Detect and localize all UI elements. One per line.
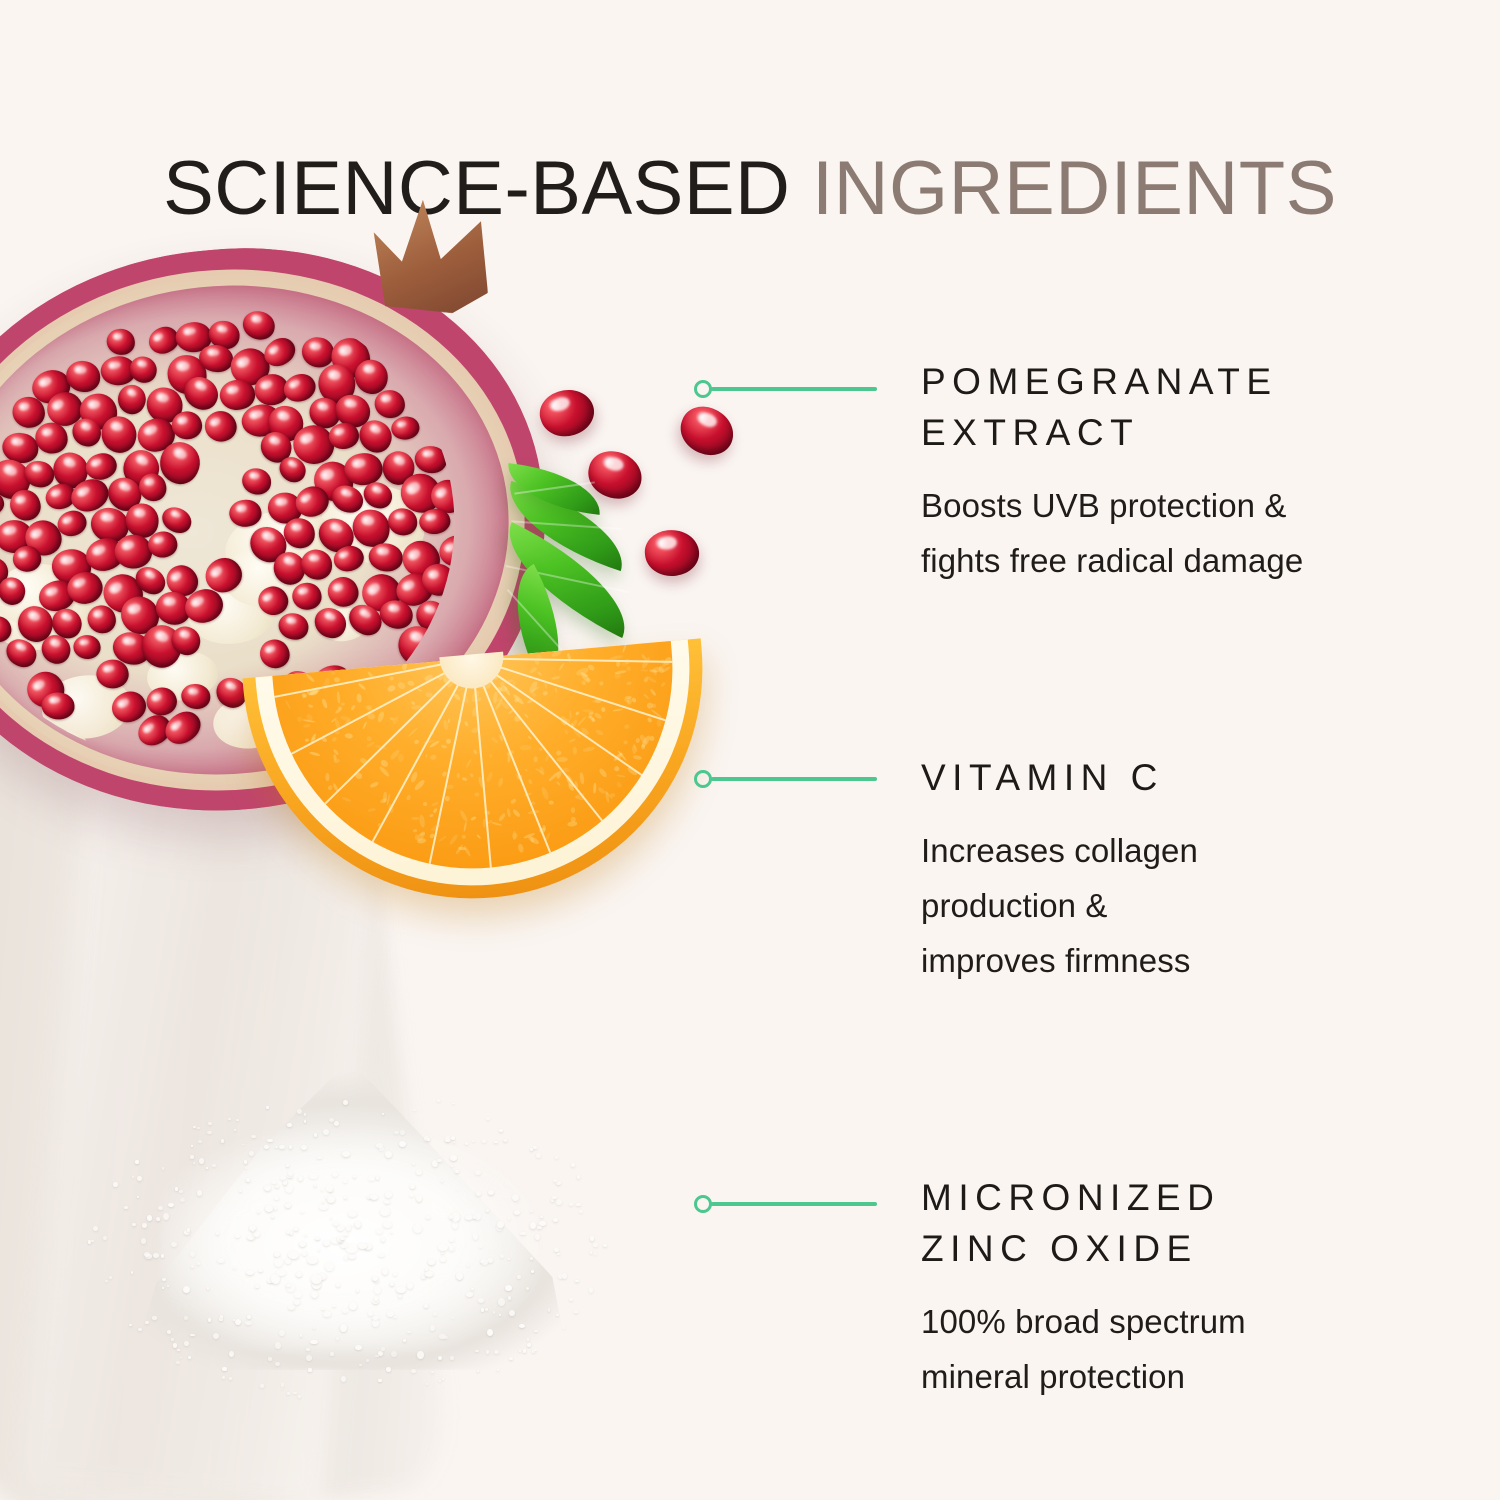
powder-speck xyxy=(198,1140,202,1144)
powder-speck xyxy=(376,1228,383,1234)
powder-speck xyxy=(229,1351,234,1357)
powder-speck xyxy=(244,1160,247,1163)
orange-pulp-vesicle xyxy=(549,800,554,804)
powder-speck xyxy=(439,1334,445,1338)
orange-pulp-vesicle xyxy=(445,737,452,744)
orange-pulp-vesicle xyxy=(556,750,562,756)
orange-pulp-vesicle xyxy=(326,773,330,781)
powder-speck xyxy=(555,1156,558,1159)
orange-pulp-vesicle xyxy=(498,812,507,822)
powder-speck xyxy=(298,1395,301,1398)
orange-pulp-vesicle xyxy=(331,672,335,676)
powder-speck xyxy=(488,1190,494,1195)
orange-pulp-vesicle xyxy=(424,754,428,759)
orange-pulp-vesicle xyxy=(601,706,606,712)
powder-speck xyxy=(287,1123,292,1127)
orange-pulp-vesicle xyxy=(580,773,585,785)
powder-speck xyxy=(184,1341,189,1346)
orange-pulp-vesicle xyxy=(457,717,462,725)
powder-speck xyxy=(124,1206,128,1209)
powder-speck xyxy=(132,1223,136,1226)
powder-speck xyxy=(399,1141,406,1147)
powder-speck xyxy=(438,1244,448,1250)
powder-speck xyxy=(505,1285,512,1291)
powder-speck xyxy=(206,1167,208,1169)
powder-speck xyxy=(366,1359,369,1362)
powder-speck xyxy=(274,1207,277,1210)
orange-pulp-vesicle xyxy=(354,771,363,780)
powder-speck xyxy=(253,1231,260,1236)
orange-pulp-vesicle xyxy=(334,719,340,730)
orange-pulp-vesicle xyxy=(519,745,531,751)
orange-pulp-vesicle xyxy=(649,688,656,696)
powder-speck xyxy=(129,1324,132,1326)
powder-speck xyxy=(537,1226,542,1230)
powder-speck xyxy=(266,1106,269,1109)
powder-speck xyxy=(424,1304,428,1308)
spacer xyxy=(921,1274,1461,1294)
powder-speck xyxy=(379,1146,383,1151)
powder-speck xyxy=(390,1282,393,1286)
orange-pulp-vesicle xyxy=(533,756,537,762)
powder-speck xyxy=(222,1367,226,1371)
powder-speck xyxy=(527,1338,529,1341)
powder-speck xyxy=(207,1131,212,1134)
powder-speck xyxy=(481,1259,489,1264)
powder-speck xyxy=(577,1175,580,1179)
orange-pulp-vesicle xyxy=(615,781,622,788)
powder-speck xyxy=(179,1190,184,1193)
orange-pulp-vesicle xyxy=(356,693,362,702)
pomegranate-aril xyxy=(199,406,241,448)
orange-pulp-vesicle xyxy=(377,711,385,723)
powder-speck xyxy=(271,1180,277,1184)
powder-speck xyxy=(380,1207,390,1215)
powder-speck xyxy=(153,1253,159,1258)
powder-speck xyxy=(137,1176,141,1181)
orange-pulp-vesicle xyxy=(542,825,546,830)
powder-speck xyxy=(517,1275,521,1279)
powder-speck xyxy=(343,1179,346,1183)
orange-pulp-vesicle xyxy=(595,729,604,737)
powder-speck xyxy=(271,1274,280,1284)
orange-pulp-vesicle xyxy=(640,669,649,672)
powder-speck xyxy=(293,1392,296,1394)
orange-pulp-vesicle xyxy=(387,685,396,693)
pomegranate-aril xyxy=(182,684,211,709)
orange-pulp-vesicle xyxy=(486,771,494,783)
powder-speck xyxy=(199,1158,204,1164)
orange-pulp-vesicle xyxy=(473,748,478,754)
orange-pulp-vesicle xyxy=(656,718,662,727)
powder-speck xyxy=(229,1377,232,1381)
powder-speck xyxy=(300,1334,302,1336)
powder-speck xyxy=(439,1380,441,1382)
powder-speck xyxy=(359,1364,362,1366)
powder-speck xyxy=(386,1367,391,1372)
powder-speck xyxy=(188,1356,191,1359)
powder-speck xyxy=(285,1203,291,1208)
powder-speck xyxy=(590,1236,594,1240)
powder-speck xyxy=(296,1272,302,1278)
orange-pulp-vesicle xyxy=(418,814,425,827)
pomegranate-aril xyxy=(106,328,135,356)
powder-speck xyxy=(330,1352,334,1357)
powder-speck xyxy=(175,1187,178,1190)
orange-pulp-vesicle xyxy=(438,835,448,843)
callout-dot-icon xyxy=(694,1195,712,1213)
powder-speck xyxy=(311,1274,322,1284)
powder-speck xyxy=(374,1286,381,1294)
powder-speck xyxy=(442,1378,445,1380)
powder-speck xyxy=(213,1333,219,1339)
powder-speck xyxy=(576,1203,581,1206)
powder-speck xyxy=(184,1316,188,1321)
powder-speck xyxy=(512,1194,519,1201)
orange-pulp-vesicle xyxy=(613,766,620,773)
powder-speck xyxy=(340,1324,346,1331)
powder-speck xyxy=(283,1180,288,1185)
orange-pulp-vesicle xyxy=(569,737,576,742)
powder-speck xyxy=(378,1253,384,1258)
pomegranate-aril xyxy=(277,612,310,642)
orange-pulp-vesicle xyxy=(430,802,438,807)
orange-pulp-vesicle xyxy=(489,754,493,758)
orange-pulp-vesicle xyxy=(414,739,420,745)
powder-speck xyxy=(530,1257,533,1260)
powder-speck xyxy=(279,1330,285,1336)
powder-speck xyxy=(594,1253,597,1256)
powder-speck xyxy=(563,1327,565,1329)
powder-speck xyxy=(304,1234,307,1236)
powder-speck xyxy=(264,1185,271,1191)
callout-dot-icon xyxy=(694,380,712,398)
pomegranate-aril xyxy=(256,636,293,673)
powder-speck xyxy=(527,1343,531,1347)
powder-speck xyxy=(487,1329,493,1335)
powder-speck xyxy=(540,1216,543,1218)
orange-pulp-vesicle xyxy=(284,700,291,710)
spacer xyxy=(921,803,1461,823)
callout-line xyxy=(711,387,877,391)
powder-speck xyxy=(374,1296,379,1300)
orange-pulp-vesicle xyxy=(575,711,580,716)
orange-pulp-vesicle xyxy=(457,773,460,779)
powder-speck xyxy=(413,1224,422,1234)
orange-pulp-vesicle xyxy=(470,773,474,778)
powder-speck xyxy=(348,1254,355,1259)
orange-pulp-vesicle xyxy=(627,698,632,705)
orange-pulp-vesicle xyxy=(598,768,608,779)
powder-speck xyxy=(93,1226,97,1231)
orange-pulp-vesicle xyxy=(643,677,648,683)
powder-speck xyxy=(425,1271,434,1276)
powder-speck xyxy=(326,1184,333,1192)
powder-speck xyxy=(162,1287,164,1289)
orange-pulp-vesicle xyxy=(432,808,438,814)
powder-speck xyxy=(301,1145,307,1150)
powder-speck xyxy=(314,1184,317,1187)
pomegranate-calyx xyxy=(366,195,497,317)
powder-speck xyxy=(208,1318,212,1322)
powder-speck xyxy=(137,1196,139,1198)
pomegranate-aril xyxy=(66,360,102,393)
orange-pulp-vesicle xyxy=(429,813,434,817)
powder-speck xyxy=(103,1236,107,1240)
powder-speck xyxy=(519,1324,525,1328)
powder-speck xyxy=(451,1136,456,1140)
powder-speck xyxy=(355,1221,361,1228)
orange-pulp-vesicle xyxy=(537,671,542,676)
powder-speck xyxy=(325,1262,333,1272)
powder-speck xyxy=(298,1176,303,1181)
orange-pulp-vesicle xyxy=(577,715,587,726)
powder-speck xyxy=(113,1182,117,1186)
powder-speck xyxy=(341,1376,346,1382)
loose-aril xyxy=(534,383,600,443)
orange-pulp-vesicle xyxy=(529,666,537,674)
orange-pulp-vesicle xyxy=(411,817,419,820)
ingredients-infographic: SCIENCE-BASED INGREDIENTS xyxy=(0,0,1500,1500)
powder-speck xyxy=(233,1319,235,1321)
orange-pulp-vesicle xyxy=(461,834,466,839)
powder-speck xyxy=(340,1237,345,1240)
orange-pulp-vesicle xyxy=(653,672,656,675)
orange-pulp-vesicle xyxy=(366,741,375,748)
zinc-oxide-powder-photo xyxy=(40,1030,660,1410)
orange-pulp-vesicle xyxy=(563,729,568,735)
orange-pulp-vesicle xyxy=(470,816,477,821)
orange-pulp-vesicle xyxy=(370,781,380,789)
powder-speck xyxy=(290,1232,293,1235)
callout-dot-icon xyxy=(694,770,712,788)
orange-pulp-vesicle xyxy=(461,777,466,782)
orange-pulp-vesicle xyxy=(309,751,321,757)
orange-pulp-vesicle xyxy=(571,807,575,813)
powder-speck xyxy=(431,1371,434,1373)
powder-speck xyxy=(193,1162,195,1164)
orange-pulp-vesicle xyxy=(626,665,631,671)
powder-speck xyxy=(556,1181,561,1185)
powder-speck xyxy=(456,1272,463,1280)
powder-speck xyxy=(173,1343,177,1348)
powder-speck xyxy=(109,1276,112,1279)
powder-speck xyxy=(530,1210,532,1212)
powder-speck xyxy=(255,1285,258,1288)
orange-pulp-vesicle xyxy=(543,691,549,697)
loose-aril xyxy=(643,527,702,578)
orange-pulp-vesicle xyxy=(526,698,534,704)
powder-speck xyxy=(275,1342,281,1349)
powder-speck xyxy=(400,1130,405,1135)
powder-speck xyxy=(383,1221,392,1228)
powder-speck xyxy=(412,1162,416,1164)
orange-pulp-vesicle xyxy=(397,680,407,689)
powder-speck xyxy=(311,1291,318,1299)
powder-speck xyxy=(245,1321,252,1326)
powder-speck xyxy=(449,1215,453,1218)
powder-speck xyxy=(416,1169,421,1174)
orange-pulp-vesicle xyxy=(573,747,577,755)
orange-pulp-vesicle xyxy=(308,704,314,709)
orange-pulp-vesicle xyxy=(633,755,642,761)
orange-pulp-vesicle xyxy=(320,736,328,743)
orange-pulp-vesicle xyxy=(453,693,462,702)
powder-speck xyxy=(348,1211,357,1218)
powder-speck xyxy=(500,1254,503,1258)
powder-speck xyxy=(498,1298,505,1306)
powder-speck xyxy=(445,1139,450,1142)
powder-speck xyxy=(275,1362,280,1366)
orange-pulp-vesicle xyxy=(366,735,372,742)
powder-speck xyxy=(105,1280,108,1282)
ingredient-description: 100% broad spectrum mineral protection xyxy=(921,1294,1461,1404)
orange-pulp-vesicle xyxy=(527,779,532,785)
powder-speck xyxy=(575,1280,578,1282)
orange-pulp-vesicle xyxy=(558,663,565,672)
powder-speck xyxy=(142,1223,147,1228)
orange-pulp-vesicle xyxy=(660,681,666,687)
powder-speck xyxy=(368,1311,373,1316)
powder-speck xyxy=(590,1251,593,1254)
powder-speck xyxy=(235,1234,240,1238)
orange-pulp-vesicle xyxy=(448,833,459,845)
powder-speck xyxy=(306,1355,312,1361)
orange-pulp-vesicle xyxy=(413,779,425,792)
powder-speck xyxy=(191,1145,193,1147)
powder-speck xyxy=(593,1243,598,1248)
powder-speck xyxy=(234,1129,236,1131)
pomegranate-aril xyxy=(415,446,447,473)
powder-speck xyxy=(330,1217,333,1219)
orange-segment-divider xyxy=(472,658,608,827)
powder-speck xyxy=(138,1328,142,1331)
orange-pulp-vesicle xyxy=(463,821,467,831)
powder-speck xyxy=(536,1153,540,1158)
orange-pulp-vesicle xyxy=(627,766,639,776)
powder-speck xyxy=(603,1244,607,1247)
orange-slice-photo xyxy=(242,638,721,917)
powder-speck xyxy=(356,1289,359,1292)
powder-speck xyxy=(285,1183,293,1193)
orange-pulp-vesicle xyxy=(598,681,603,686)
ingredient-photo-collage xyxy=(0,200,760,1500)
ingredient-heading: MICRONIZED ZINC OXIDE xyxy=(921,1172,1461,1274)
orange-pulp-vesicle xyxy=(613,708,624,712)
orange-pulp-vesicle xyxy=(509,798,516,805)
powder-speck xyxy=(287,1392,290,1395)
orange-pulp-vesicle xyxy=(334,730,340,735)
powder-speck xyxy=(191,1265,194,1268)
powder-speck xyxy=(228,1118,230,1121)
pomegranate-aril xyxy=(374,389,407,420)
loose-aril xyxy=(583,446,647,504)
orange-pulp-vesicle xyxy=(508,708,514,713)
loose-aril xyxy=(673,400,740,463)
orange-pulp-vesicle xyxy=(464,721,468,726)
powder-speck xyxy=(526,1287,529,1290)
orange-pulp-vesicle xyxy=(626,682,632,686)
powder-speck xyxy=(394,1131,399,1134)
powder-speck xyxy=(410,1184,415,1189)
powder-speck xyxy=(336,1283,340,1286)
powder-speck xyxy=(396,1286,406,1294)
powder-speck xyxy=(334,1121,339,1126)
powder-speck xyxy=(187,1228,190,1232)
powder-speck xyxy=(281,1383,285,1387)
pomegranate-aril xyxy=(241,467,272,495)
powder-speck xyxy=(246,1178,250,1181)
orange-pulp-vesicle xyxy=(616,661,620,667)
powder-speck xyxy=(323,1311,331,1316)
orange-pulp-vesicle xyxy=(331,736,338,743)
powder-speck xyxy=(258,1269,263,1273)
orange-pulp-vesicle xyxy=(567,821,578,827)
powder-speck xyxy=(403,1339,406,1342)
orange-pulp-vesicle xyxy=(506,808,511,817)
orange-pulp-vesicle xyxy=(322,677,331,690)
pomegranate-aril xyxy=(241,309,277,341)
powder-speck xyxy=(183,1286,190,1293)
powder-speck xyxy=(190,1251,195,1257)
powder-speck xyxy=(479,1246,482,1248)
powder-speck xyxy=(428,1259,434,1264)
orange-pulp-vesicle xyxy=(527,736,532,740)
powder-speck xyxy=(349,1302,357,1310)
orange-pulp-vesicle xyxy=(367,808,376,812)
orange-pulp-vesicle xyxy=(465,759,472,769)
ingredient-block-zinc-oxide: MICRONIZED ZINC OXIDE 100% broad spectru… xyxy=(921,1172,1461,1404)
orange-pulp-vesicle xyxy=(570,710,572,719)
powder-speck xyxy=(147,1215,152,1221)
orange-pulp-vesicle xyxy=(524,714,529,719)
orange-pulp-vesicle xyxy=(491,822,502,827)
orange-pulp-vesicle xyxy=(574,781,579,788)
orange-pulp-vesicle xyxy=(527,809,540,814)
powder-speck xyxy=(162,1278,166,1281)
powder-speck xyxy=(466,1292,473,1296)
callout-line xyxy=(711,777,877,781)
powder-speck xyxy=(437,1159,442,1163)
powder-speck xyxy=(531,1270,534,1272)
powder-speck xyxy=(571,1163,575,1167)
orange-pulp-vesicle xyxy=(362,721,367,729)
powder-speck xyxy=(378,1379,382,1382)
pomegranate-aril xyxy=(73,634,103,661)
powder-speck xyxy=(557,1253,559,1255)
orange-pulp-vesicle xyxy=(378,766,389,778)
powder-speck xyxy=(323,1240,330,1246)
orange-pulp-vesicle xyxy=(417,688,423,692)
powder-speck xyxy=(514,1210,520,1215)
orange-pulp-vesicle xyxy=(430,755,436,760)
orange-pulp-vesicle xyxy=(512,809,521,818)
orange-pulp-vesicle xyxy=(344,732,353,738)
powder-speck xyxy=(306,1348,310,1351)
pomegranate-aril xyxy=(389,414,422,443)
powder-speck xyxy=(152,1316,156,1321)
powder-speck xyxy=(450,1155,457,1161)
orange-pulp-vesicle xyxy=(636,738,641,743)
powder-speck xyxy=(207,1287,209,1289)
orange-pulp-vesicle xyxy=(441,744,448,748)
powder-speck xyxy=(481,1308,484,1311)
powder-speck xyxy=(497,1369,499,1371)
callout-line xyxy=(711,1202,877,1206)
powder-speck xyxy=(167,1330,171,1334)
powder-speck xyxy=(274,1257,283,1267)
powder-speck xyxy=(449,1246,454,1251)
